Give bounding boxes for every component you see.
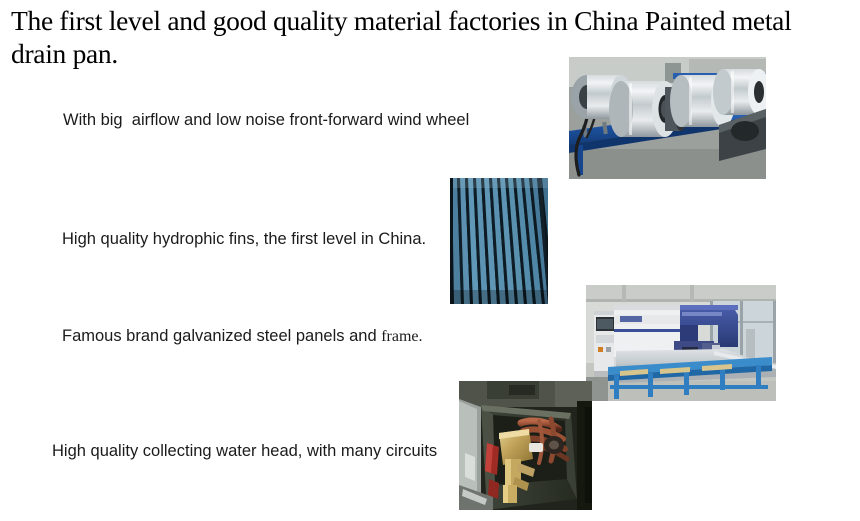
cnc-machine-illustration [586,285,776,401]
caption-airflow: With big airflow and low noise front-for… [63,110,469,130]
water-header-illustration [459,381,592,510]
wind-wheel-illustration [569,57,766,179]
caption-steel-panels-main: Famous brand galvanized steel panels and [62,327,381,345]
cnc-machine-photo [586,285,776,401]
hydrophic-fins-photo [450,178,548,304]
caption-steel-panels-tail: frame. [381,328,422,345]
caption-steel-panels: Famous brand galvanized steel panels and… [62,326,423,347]
caption-water-head: High quality collecting water head, with… [52,441,437,461]
caption-hydrophic-fins: High quality hydrophic fins, the first l… [62,229,426,249]
water-header-photo [459,381,592,510]
wind-wheel-photo [569,57,766,179]
hydrophic-fins-illustration [450,178,548,304]
